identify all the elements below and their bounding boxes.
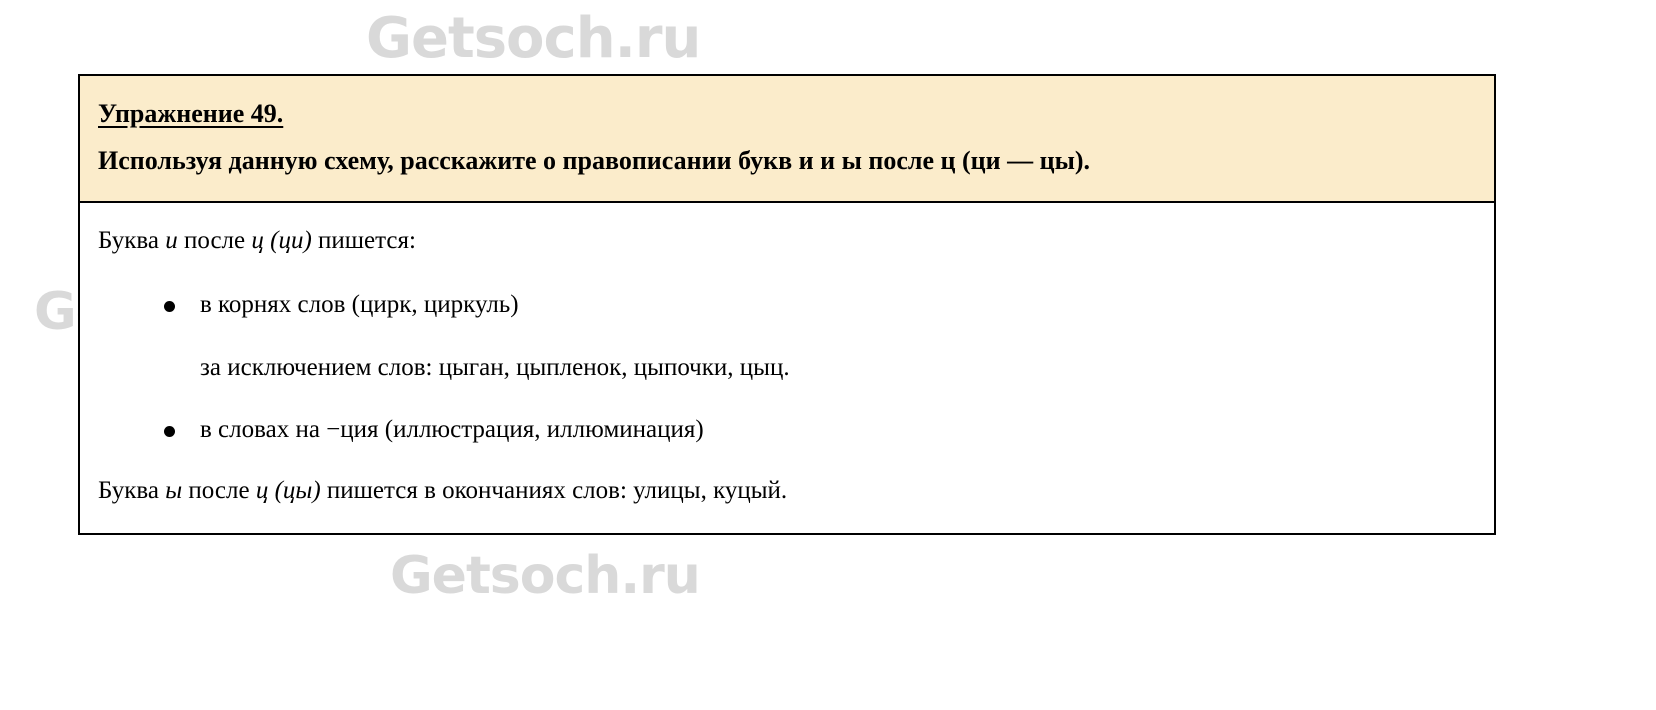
rule-y-letter: ы xyxy=(165,477,182,504)
rule-i-exception: за исключением слов: цыган, цыпленок, цы… xyxy=(98,352,1476,385)
watermark-bottom: Getsoch.ru xyxy=(390,546,700,606)
bullet-dot-icon xyxy=(164,426,175,437)
watermark-top: Getsoch.ru xyxy=(366,6,700,71)
exercise-prompt: Используя данную схему, расскажите о пра… xyxy=(98,141,1476,181)
list-item: в словах на −ция (иллюстрация, иллюминац… xyxy=(98,414,1476,447)
list-item-label: в корнях слов (цирк, циркуль) xyxy=(200,291,519,318)
rule-y-marker: ц (цы) xyxy=(256,477,321,504)
bullet-dot-icon xyxy=(164,301,175,312)
rule-i-bullet-list: в корнях слов (цирк, циркуль) за исключе… xyxy=(98,289,1476,447)
rule-i-intro-middle: после xyxy=(178,227,252,254)
rule-i-letter: и xyxy=(165,227,178,254)
rule-i-intro-before: Буква xyxy=(98,227,165,254)
rule-y-middle: после xyxy=(182,477,256,504)
rule-i-marker: ц (ци) xyxy=(251,227,311,254)
exercise-card: Упражнение 49. Используя данную схему, р… xyxy=(78,74,1496,535)
rule-i-intro-after: пишется: xyxy=(312,227,416,254)
exercise-body: Буква и после ц (ци) пишется: в корнях с… xyxy=(80,203,1494,534)
rule-y-line: Буква ы после ц (цы) пишется в окончания… xyxy=(98,475,1476,508)
rule-y-before: Буква xyxy=(98,477,165,504)
exercise-title: Упражнение 49. xyxy=(98,98,1476,131)
list-item: в корнях слов (цирк, циркуль) xyxy=(98,289,1476,322)
rule-y-after: пишется в окончаниях слов: улицы, куцый. xyxy=(321,477,788,504)
rule-i-intro: Буква и после ц (ци) пишется: xyxy=(98,225,1476,258)
list-item-label: в словах на −ция (иллюстрация, иллюминац… xyxy=(200,416,704,443)
exercise-header: Упражнение 49. Используя данную схему, р… xyxy=(80,76,1494,203)
